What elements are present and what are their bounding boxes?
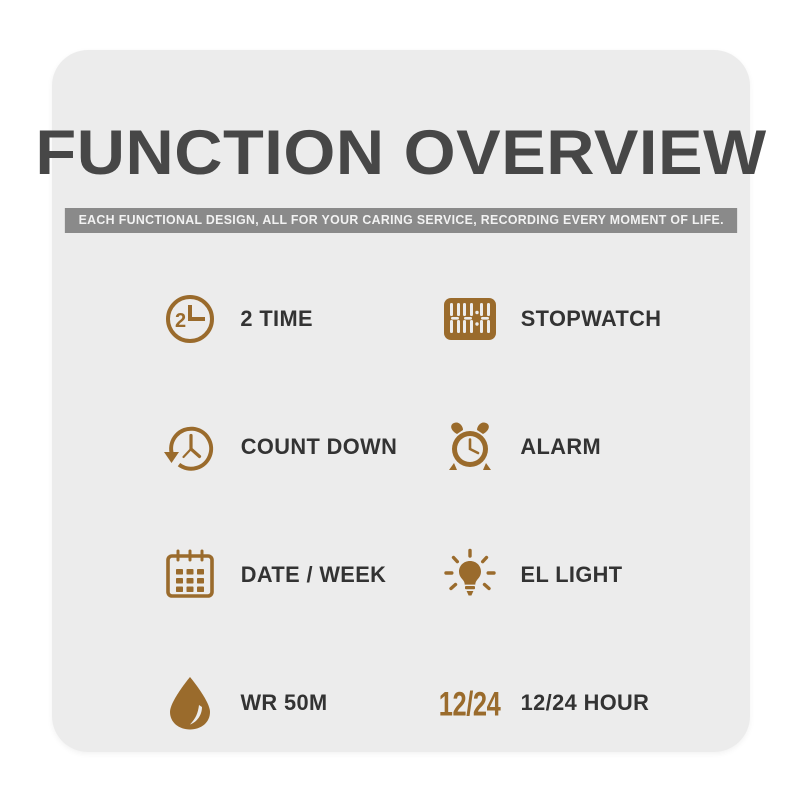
feature-label: EL LIGHT (521, 562, 623, 588)
calendar-icon (162, 547, 218, 603)
function-overview-card: FUNCTION OVERVIEW EACH FUNCTIONAL DESIGN… (52, 50, 750, 752)
feature-label: 12/24 HOUR (521, 690, 650, 716)
feature-item-el-light[interactable]: EL LIGHT (442, 511, 682, 639)
card-header: FUNCTION OVERVIEW EACH FUNCTIONAL DESIGN… (52, 50, 750, 233)
subtitle-container: EACH FUNCTIONAL DESIGN, ALL FOR YOUR CAR… (52, 208, 750, 233)
feature-item-stopwatch[interactable]: STOPWATCH (442, 255, 682, 383)
dual-time-clock-icon: 2 (162, 291, 218, 347)
feature-grid: 2 2 TIME (162, 255, 682, 767)
alarm-clock-icon (442, 419, 498, 475)
subtitle-banner: EACH FUNCTIONAL DESIGN, ALL FOR YOUR CAR… (65, 208, 738, 233)
feature-item-alarm[interactable]: ALARM (442, 383, 682, 511)
feature-item-12-24-hour[interactable]: 12/24 12/24 HOUR (442, 639, 682, 767)
feature-label: COUNT DOWN (241, 434, 397, 460)
svg-text:2: 2 (175, 310, 186, 332)
stopwatch-digital-display-icon (442, 291, 498, 347)
feature-label: STOPWATCH (521, 306, 662, 332)
feature-label: ALARM (520, 434, 601, 460)
feature-label: 2 TIME (240, 306, 313, 332)
light-bulb-icon (442, 547, 498, 603)
water-drop-icon (162, 675, 218, 731)
page-title: FUNCTION OVERVIEW (31, 50, 771, 185)
twelve-twentyfour-text-icon: 12/24 (442, 675, 498, 731)
count-down-clock-icon (162, 419, 218, 475)
feature-item-wr-50m[interactable]: WR 50M (162, 639, 442, 767)
feature-item-2-time[interactable]: 2 2 TIME (162, 255, 442, 383)
twelve-twentyfour-glyph: 12/24 (439, 686, 501, 721)
feature-item-date-week[interactable]: DATE / WEEK (162, 511, 442, 639)
page-root: FUNCTION OVERVIEW EACH FUNCTIONAL DESIGN… (0, 0, 800, 800)
feature-label: WR 50M (240, 690, 327, 716)
feature-item-count-down[interactable]: COUNT DOWN (162, 383, 442, 511)
feature-label: DATE / WEEK (241, 562, 387, 588)
